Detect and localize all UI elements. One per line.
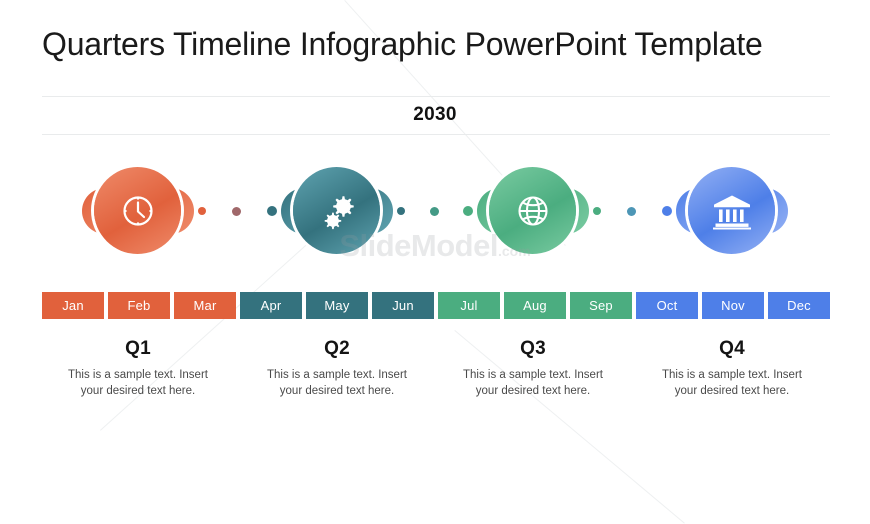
quarter-body-text: This is a sample text. Insert your desir…: [633, 368, 831, 399]
connector-dot: [397, 207, 405, 215]
timeline-row: [0, 155, 870, 267]
month-chip-label: May: [324, 298, 349, 313]
slide-canvas: Quarters Timeline Infographic PowerPoint…: [0, 0, 870, 489]
quarter-title: Q2: [238, 338, 436, 360]
bank-icon: [710, 191, 754, 231]
month-chip-aug[interactable]: Aug: [504, 292, 566, 319]
globe-icon: [512, 190, 554, 232]
month-chip-label: Oct: [657, 298, 678, 313]
month-chip-jan[interactable]: Jan: [42, 292, 104, 319]
timeline-node-q4[interactable]: [676, 155, 788, 267]
node-circle-q2[interactable]: [293, 167, 380, 254]
connector-dot: [463, 206, 473, 216]
month-chip-label: Sep: [589, 298, 613, 313]
clock-icon: [118, 191, 158, 231]
timeline-connector-dots: [198, 205, 277, 217]
month-chip-dec[interactable]: Dec: [768, 292, 830, 319]
month-chip-label: Jan: [62, 298, 84, 313]
month-chip-mar[interactable]: Mar: [174, 292, 236, 319]
connector-dot: [232, 207, 241, 216]
year-label: 2030: [0, 104, 870, 126]
year-band-bottom-rule: [42, 134, 830, 135]
month-chip-label: Jun: [392, 298, 414, 313]
month-chip-label: Mar: [194, 298, 217, 313]
month-chip-jun[interactable]: Jun: [372, 292, 434, 319]
timeline-connector-dots: [593, 205, 672, 217]
connector-dot: [662, 206, 672, 216]
gears-icon: [316, 190, 358, 232]
connector-dot: [627, 207, 636, 216]
quarter-body-text: This is a sample text. Insert your desir…: [238, 368, 436, 399]
connector-dot: [430, 207, 439, 216]
month-chip-label: Jul: [460, 298, 477, 313]
month-chip-label: Nov: [721, 298, 745, 313]
month-chip-label: Apr: [261, 298, 282, 313]
slide-title: Quarters Timeline Infographic PowerPoint…: [42, 26, 763, 63]
node-circle-q4[interactable]: [688, 167, 775, 254]
month-chip-may[interactable]: May: [306, 292, 368, 319]
timeline-node-q3[interactable]: [477, 155, 589, 267]
node-circle-q1[interactable]: [94, 167, 181, 254]
connector-dot: [267, 206, 277, 216]
month-chip-feb[interactable]: Feb: [108, 292, 170, 319]
connector-dot: [593, 207, 601, 215]
quarter-body-text: This is a sample text. Insert your desir…: [39, 368, 237, 399]
month-chip-row: JanFebMarAprMayJunJulAugSepOctNovDec: [42, 292, 830, 319]
quarter-description-row: Q1This is a sample text. Insert your des…: [0, 338, 870, 448]
month-chip-sep[interactable]: Sep: [570, 292, 632, 319]
month-chip-oct[interactable]: Oct: [636, 292, 698, 319]
month-chip-label: Aug: [523, 298, 547, 313]
quarter-block-q2: Q2This is a sample text. Insert your des…: [238, 338, 436, 399]
quarter-title: Q4: [633, 338, 831, 360]
quarter-block-q4: Q4This is a sample text. Insert your des…: [633, 338, 831, 399]
quarter-body-text: This is a sample text. Insert your desir…: [434, 368, 632, 399]
month-chip-label: Feb: [127, 298, 150, 313]
quarter-block-q1: Q1This is a sample text. Insert your des…: [39, 338, 237, 399]
timeline-node-q2[interactable]: [281, 155, 393, 267]
year-band-top-rule: [42, 96, 830, 97]
quarter-block-q3: Q3This is a sample text. Insert your des…: [434, 338, 632, 399]
month-chip-nov[interactable]: Nov: [702, 292, 764, 319]
month-chip-jul[interactable]: Jul: [438, 292, 500, 319]
month-chip-label: Dec: [787, 298, 811, 313]
node-circle-q3[interactable]: [489, 167, 576, 254]
connector-dot: [198, 207, 206, 215]
quarter-title: Q3: [434, 338, 632, 360]
timeline-connector-dots: [397, 205, 473, 217]
timeline-node-q1[interactable]: [82, 155, 194, 267]
month-chip-apr[interactable]: Apr: [240, 292, 302, 319]
quarter-title: Q1: [39, 338, 237, 360]
